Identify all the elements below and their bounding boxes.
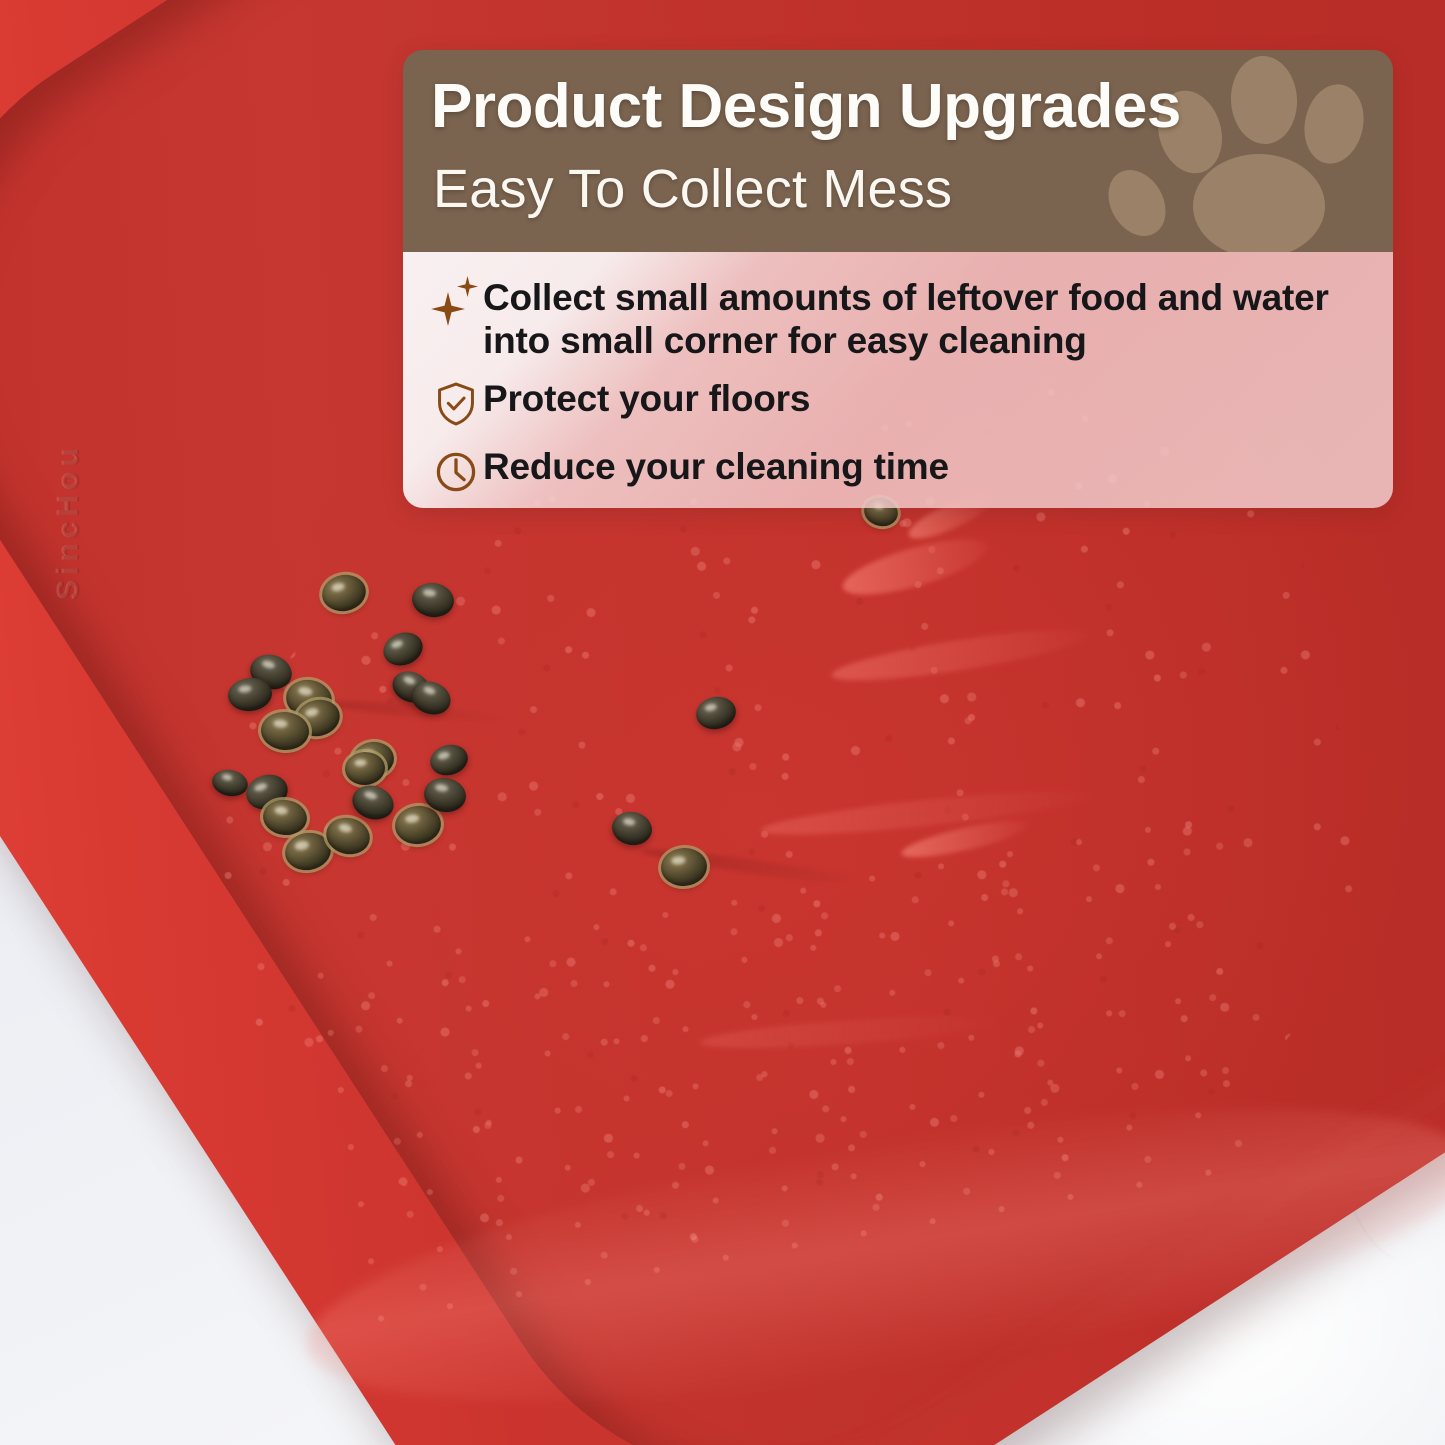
embossed-brand-text: SincHou: [52, 443, 86, 600]
product-photo-scene: SincHou: [0, 0, 1445, 1445]
feature-text: Reduce your cleaning time: [483, 445, 949, 489]
clock-icon: [429, 445, 483, 499]
shield-check-icon: [429, 377, 483, 431]
panel-body: Collect small amounts of leftover food a…: [403, 252, 1393, 508]
feature-item: Protect your floors: [429, 377, 1367, 431]
kibble-piece: [659, 846, 708, 888]
kibble-piece: [260, 710, 311, 751]
panel-title: Product Design Upgrades: [403, 50, 1393, 138]
feature-text: Collect small amounts of leftover food a…: [483, 276, 1367, 363]
feature-text: Protect your floors: [483, 377, 810, 421]
feature-item: Reduce your cleaning time: [429, 445, 1367, 499]
kibble-piece: [344, 751, 386, 787]
info-panel: Product Design Upgrades Easy To Collect …: [403, 50, 1393, 508]
sparkle-icon: [429, 276, 483, 330]
feature-list: Collect small amounts of leftover food a…: [403, 252, 1393, 499]
feature-item: Collect small amounts of leftover food a…: [429, 276, 1367, 363]
panel-header: Product Design Upgrades Easy To Collect …: [403, 50, 1393, 252]
panel-subtitle: Easy To Collect Mess: [403, 138, 1393, 216]
